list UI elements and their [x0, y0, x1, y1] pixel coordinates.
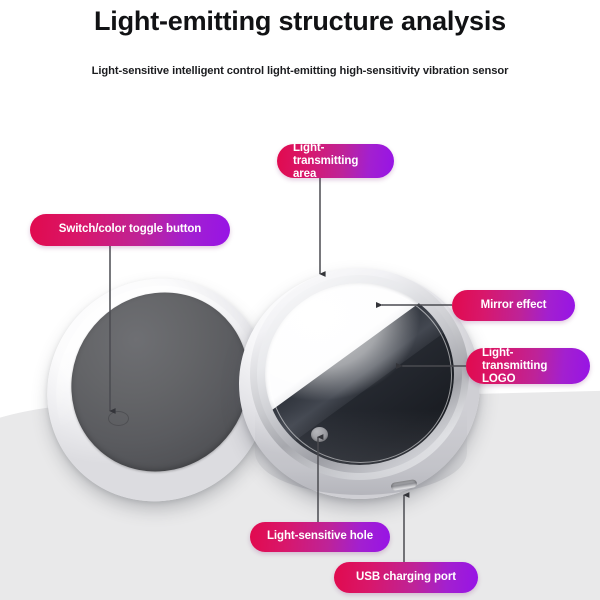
callout-label-line-1: Light-transmitting [482, 347, 547, 372]
callout-label-line-1: Light-transmitting [293, 142, 358, 167]
callout-label: Switch/color toggle button [59, 223, 201, 237]
callout-label: Light-transmitting LOGO [482, 347, 574, 386]
infographic-canvas: Light-emitting structure analysis Light-… [0, 0, 600, 600]
product-left-back-side [47, 279, 269, 501]
product-right-front-side [239, 259, 480, 500]
callout-label: Light-sensitive hole [267, 530, 373, 544]
callout-switch-color-toggle-button[interactable]: Switch/color toggle button [30, 214, 230, 246]
callout-label: USB charging port [356, 571, 456, 585]
callout-light-transmitting-logo[interactable]: Light-transmitting LOGO [466, 348, 590, 384]
callout-label-line-2: area [293, 168, 316, 180]
callout-light-transmitting-area[interactable]: Light-transmitting area [277, 144, 394, 178]
callout-usb-charging-port[interactable]: USB charging port [334, 562, 478, 593]
page-subtitle: Light-sensitive intelligent control ligh… [0, 65, 600, 77]
light-sensitive-hole [311, 427, 328, 442]
callout-light-sensitive-hole[interactable]: Light-sensitive hole [250, 522, 390, 552]
callout-mirror-effect[interactable]: Mirror effect [452, 290, 575, 321]
callout-label: Mirror effect [481, 299, 547, 313]
callout-label-line-2: LOGO [482, 373, 515, 385]
page-title: Light-emitting structure analysis [0, 6, 600, 37]
callout-label: Light-transmitting area [293, 142, 378, 181]
mirror-glass [265, 283, 454, 465]
